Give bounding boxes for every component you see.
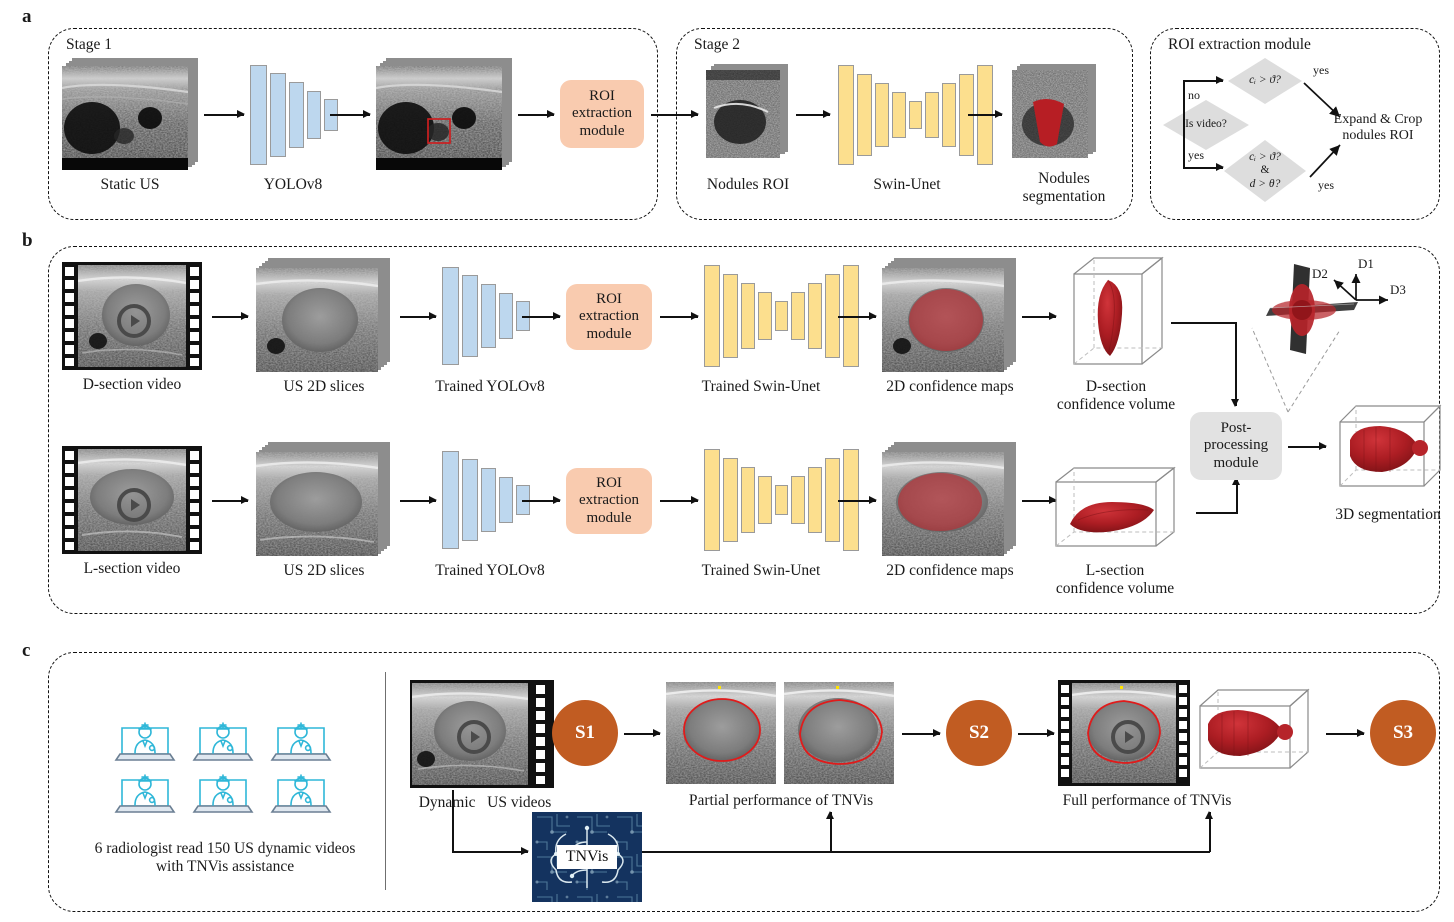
pp-line1: Post- (1204, 420, 1268, 437)
us-slices-caption-l: US 2D slices (256, 562, 392, 580)
stage2-title: Stage 2 (694, 36, 740, 54)
post-processing-module: Post- processing module (1190, 412, 1282, 480)
arrow-b1-conf-to-volume (1022, 316, 1056, 318)
contour-image-1 (666, 682, 776, 784)
trained-yolov8-caption-d: Trained YOLOv8 (410, 378, 570, 396)
l-volume-line2: confidence volume (1040, 580, 1190, 598)
tnvis-label: TNVis (557, 845, 618, 869)
seg-caption-line2: segmentation (1006, 188, 1122, 206)
roi-extraction-module-b2: ROI extraction module (566, 468, 652, 534)
stage1-title: Stage 1 (66, 36, 112, 54)
partial-performance-image-1 (666, 682, 776, 784)
radiologists-caption: 6 radiologist read 150 US dynamic videos… (50, 840, 400, 876)
arrow-b2-slices-to-yolo (400, 500, 436, 502)
volume-surface (1070, 502, 1154, 532)
arrow-b1-slices-to-yolo (400, 316, 436, 318)
edge-yes-top-label: yes (1313, 63, 1329, 78)
tnvis-branch-arrow (452, 851, 528, 853)
pp-line3: module (1204, 455, 1268, 472)
d-volume-line1: D-section (1042, 378, 1190, 396)
roi-b2-line2: extraction (579, 492, 639, 509)
l-section-video-caption: L-section video (52, 560, 212, 578)
radiologists-svg (112, 718, 342, 814)
connector-l-to-pp-v (1236, 478, 1238, 514)
nodules-roi-stack (706, 64, 790, 160)
nodules-segmentation-stack (1012, 64, 1102, 160)
partial-performance-caption: Partial performance of TNVis (650, 792, 912, 810)
swin-unet-caption: Swin-Unet (842, 176, 972, 194)
full-performance-caption: Full performance of TNVis (1022, 792, 1272, 810)
trained-yolov8-blocks-l (442, 452, 530, 548)
trained-swin-unet-blocks-d (704, 266, 859, 366)
roi-output-label: Expand & Crop nodules ROI (1322, 112, 1434, 144)
d-volume-caption: D-section confidence volume (1042, 378, 1190, 414)
confidence-maps-caption-l: 2D confidence maps (862, 562, 1038, 580)
decision-is-video-label: Is video? (1185, 118, 1227, 132)
arrow-stage1-to-stage2 (651, 114, 698, 116)
confidence-maps-caption-d: 2D confidence maps (862, 378, 1038, 396)
arrow-b2-yolo-to-roi (522, 500, 560, 502)
partial-performance-image-2 (784, 682, 894, 784)
pp-line2: processing (1204, 437, 1268, 454)
arrow-swin-to-seg (968, 114, 1002, 116)
volume-surface (1098, 280, 1123, 356)
seg-caption-line1: Nodules (1006, 170, 1122, 188)
axis-label-d2: D2 (1312, 266, 1328, 282)
tnvis-to-partial-arrow (830, 812, 832, 852)
l-section-confidence-volume (1040, 462, 1190, 562)
static-us-stack (62, 58, 198, 170)
static-us-caption: Static US (62, 176, 198, 194)
arrow-b2-video-to-slices (212, 500, 248, 502)
step-circle-s3: S3 (1370, 700, 1436, 766)
play-icon[interactable] (1111, 720, 1145, 754)
radiologists-caption-line1: 6 radiologist read 150 US dynamic videos (50, 840, 400, 858)
trained-swin-unet-caption-d: Trained Swin-Unet (672, 378, 850, 396)
arrow-pp-to-3dseg (1288, 446, 1326, 448)
roi-extraction-module-a: ROI extraction module (560, 80, 644, 148)
trained-yolov8-blocks-d (442, 268, 530, 364)
arrow-us-to-yolo (204, 114, 244, 116)
tnvis-branch-vertical (452, 790, 454, 852)
radiologist-icon-grid (112, 718, 342, 814)
dynamic-us-video[interactable] (410, 680, 554, 788)
yolov8-blocks (250, 66, 338, 164)
step-s2-label: S2 (969, 722, 989, 744)
d-section-confidence-volume (1062, 252, 1166, 380)
arrow-b1-video-to-slices (212, 316, 248, 318)
arrow-b1-swin-to-conf (838, 316, 876, 318)
us-2d-slices-stack-l (256, 442, 392, 556)
connector-d-to-pp-h (1171, 322, 1237, 324)
ultrasound-image (62, 66, 188, 170)
arrow-roi-to-swin (796, 114, 830, 116)
connector-d-to-pp-v (1235, 322, 1237, 406)
tnvis-out-line (642, 851, 1210, 853)
connector-l-to-pp-h (1196, 512, 1238, 514)
step-circle-s2: S2 (946, 700, 1012, 766)
branch-no-arrow (1183, 80, 1223, 82)
step-circle-s1: S1 (552, 700, 618, 766)
branch-no-vertical (1183, 80, 1185, 125)
edge-yes-bottom-label: yes (1318, 178, 1334, 193)
trained-yolov8-caption-l: Trained YOLOv8 (410, 562, 570, 580)
3d-segmentation-caption: 3D segmentation (1318, 506, 1454, 524)
play-icon[interactable] (457, 720, 491, 754)
play-icon[interactable] (117, 488, 151, 522)
confidence-maps-stack-d (882, 258, 1018, 372)
segmentation-surface (1208, 710, 1282, 756)
segmentation-surface (1350, 426, 1418, 472)
branch-yes-label: yes (1188, 148, 1204, 163)
d-volume-line2: confidence volume (1042, 396, 1190, 414)
roi-output-line1: Expand & Crop (1322, 112, 1434, 128)
trained-swin-unet-blocks-l (704, 450, 859, 550)
radiologist-icon (116, 723, 174, 760)
dynamic-caption-word1: Dynamic (419, 794, 476, 811)
radiologist-icon (272, 723, 330, 760)
roi-module-title: ROI extraction module (1168, 36, 1311, 54)
nodule-roi-image (706, 70, 780, 158)
radiologist-icon (272, 775, 330, 812)
tnvis-logo: TNVis (532, 812, 642, 902)
branch-yes-arrow (1183, 167, 1223, 169)
arrow-c-s2-to-full (1018, 733, 1054, 735)
contour-image-2 (784, 682, 894, 784)
confidence-map-image-d (882, 268, 1004, 372)
d-section-video-caption: D-section video (52, 376, 212, 394)
branch-yes-vertical (1183, 125, 1185, 169)
axis-label-d3: D3 (1390, 282, 1406, 298)
radiologists-caption-line2: with TNVis assistance (50, 858, 400, 876)
d-section-video[interactable] (62, 262, 202, 370)
confidence-overlay (909, 289, 983, 351)
confidence-overlay (898, 473, 982, 531)
roi-b1-line3: module (579, 326, 639, 343)
panel-label-b: b (22, 230, 33, 252)
decision-cd-line1: cᵢ > ϑ? (1249, 151, 1281, 165)
confidence-maps-stack-l (882, 442, 1018, 556)
l-volume-line1: L-section (1040, 562, 1190, 580)
full-performance-video[interactable] (1058, 680, 1190, 786)
nodules-segmentation-caption: Nodules segmentation (1006, 170, 1122, 206)
trained-swin-unet-caption-l: Trained Swin-Unet (672, 562, 850, 580)
l-section-video[interactable] (62, 446, 202, 554)
decision-cd-line2: & (1249, 164, 1281, 178)
arrow-yolo-to-detected (330, 114, 370, 116)
us-slice-image-l (256, 452, 378, 556)
arrow-c-s1-to-partial (624, 733, 660, 735)
roi-extraction-module-b1: ROI extraction module (566, 284, 652, 350)
panel-label-a: a (22, 6, 32, 28)
arrow-detected-to-roi (518, 114, 554, 116)
dynamic-caption-word2: US videos (487, 794, 551, 811)
yolov8-caption: YOLOv8 (228, 176, 358, 194)
arrow-b1-yolo-to-roi (522, 316, 560, 318)
roi-output-line2: nodules ROI (1322, 128, 1434, 144)
step-s3-label: S3 (1393, 722, 1413, 744)
segmentation-image (1012, 70, 1088, 158)
radiologist-icon (116, 775, 174, 812)
branch-no-label: no (1188, 88, 1200, 103)
ultrasound-image-detected (376, 66, 502, 170)
l-volume-caption: L-section confidence volume (1040, 562, 1190, 598)
arrow-b2-roi-to-swin (660, 500, 698, 502)
roi-module-line2: extraction (572, 105, 632, 122)
roi-b1-line1: ROI (579, 291, 639, 308)
panel-label-c: c (22, 640, 30, 662)
radiologist-icon (194, 775, 252, 812)
confidence-map-image-l (882, 452, 1004, 556)
3d-segmentation-volume (1330, 400, 1450, 502)
3d-segmentation-volume-c (1190, 684, 1322, 784)
decision-cd-line3: d > θ? (1249, 178, 1281, 192)
detected-us-stack (376, 58, 512, 170)
roi-module-line3: module (572, 123, 632, 140)
tnvis-to-full-arrow (1209, 812, 1211, 852)
step-s1-label: S1 (575, 722, 595, 744)
decision-confidence-label: cᵢ > ϑ? (1249, 74, 1281, 88)
arrow-c-full-to-s3 (1326, 733, 1364, 735)
play-icon[interactable] (117, 304, 151, 338)
arrow-b1-roi-to-swin (660, 316, 698, 318)
radiologist-icon (194, 723, 252, 760)
arrow-c-partial-to-s2 (902, 733, 940, 735)
figure-root: a Stage 1 Stage 2 ROI extraction module … (0, 0, 1454, 922)
arrow-b2-swin-to-conf (838, 500, 876, 502)
nodules-roi-caption: Nodules ROI (690, 176, 806, 194)
us-slice-image (256, 268, 378, 372)
roi-b2-line3: module (579, 510, 639, 527)
roi-b2-line1: ROI (579, 475, 639, 492)
us-slices-caption-d: US 2D slices (256, 378, 392, 396)
us-2d-slices-stack-d (256, 258, 392, 372)
dynamic-videos-caption: Dynamic US videos (390, 794, 580, 812)
roi-module-line1: ROI (572, 88, 632, 105)
roi-b1-line2: extraction (579, 308, 639, 325)
axis-label-d1: D1 (1358, 256, 1374, 272)
